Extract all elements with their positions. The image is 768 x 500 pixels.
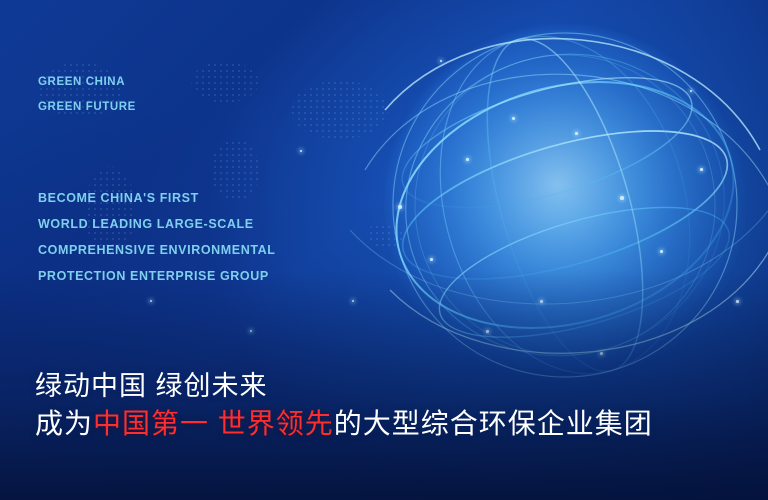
chinese-headline: 绿动中国 绿创未来 成为中国第一 世界领先的大型综合环保企业集团 — [35, 368, 653, 444]
english-statement-line-2: WORLD LEADING LARGE-SCALE — [38, 211, 276, 237]
english-statement-line-1: BECOME CHINA'S FIRST — [38, 185, 276, 211]
english-statement: BECOME CHINA'S FIRST WORLD LEADING LARGE… — [38, 185, 276, 289]
english-tagline: GREEN CHINA GREEN FUTURE — [38, 70, 136, 120]
banner-image: GREEN CHINA GREEN FUTURE BECOME CHINA'S … — [0, 0, 768, 500]
chinese-tagline: 绿动中国 绿创未来 — [35, 368, 653, 404]
english-statement-line-4: PROTECTION ENTERPRISE GROUP — [38, 263, 276, 289]
english-statement-line-3: COMPREHENSIVE ENVIRONMENTAL — [38, 237, 276, 263]
english-tagline-line-1: GREEN CHINA — [38, 70, 136, 95]
chinese-statement-suffix: 的大型综合环保企业集团 — [334, 408, 653, 439]
chinese-statement-highlight: 中国第一 世界领先 — [93, 408, 334, 439]
english-tagline-line-2: GREEN FUTURE — [38, 95, 136, 120]
chinese-statement: 成为中国第一 世界领先的大型综合环保企业集团 — [35, 404, 653, 444]
chinese-statement-prefix: 成为 — [35, 408, 93, 439]
